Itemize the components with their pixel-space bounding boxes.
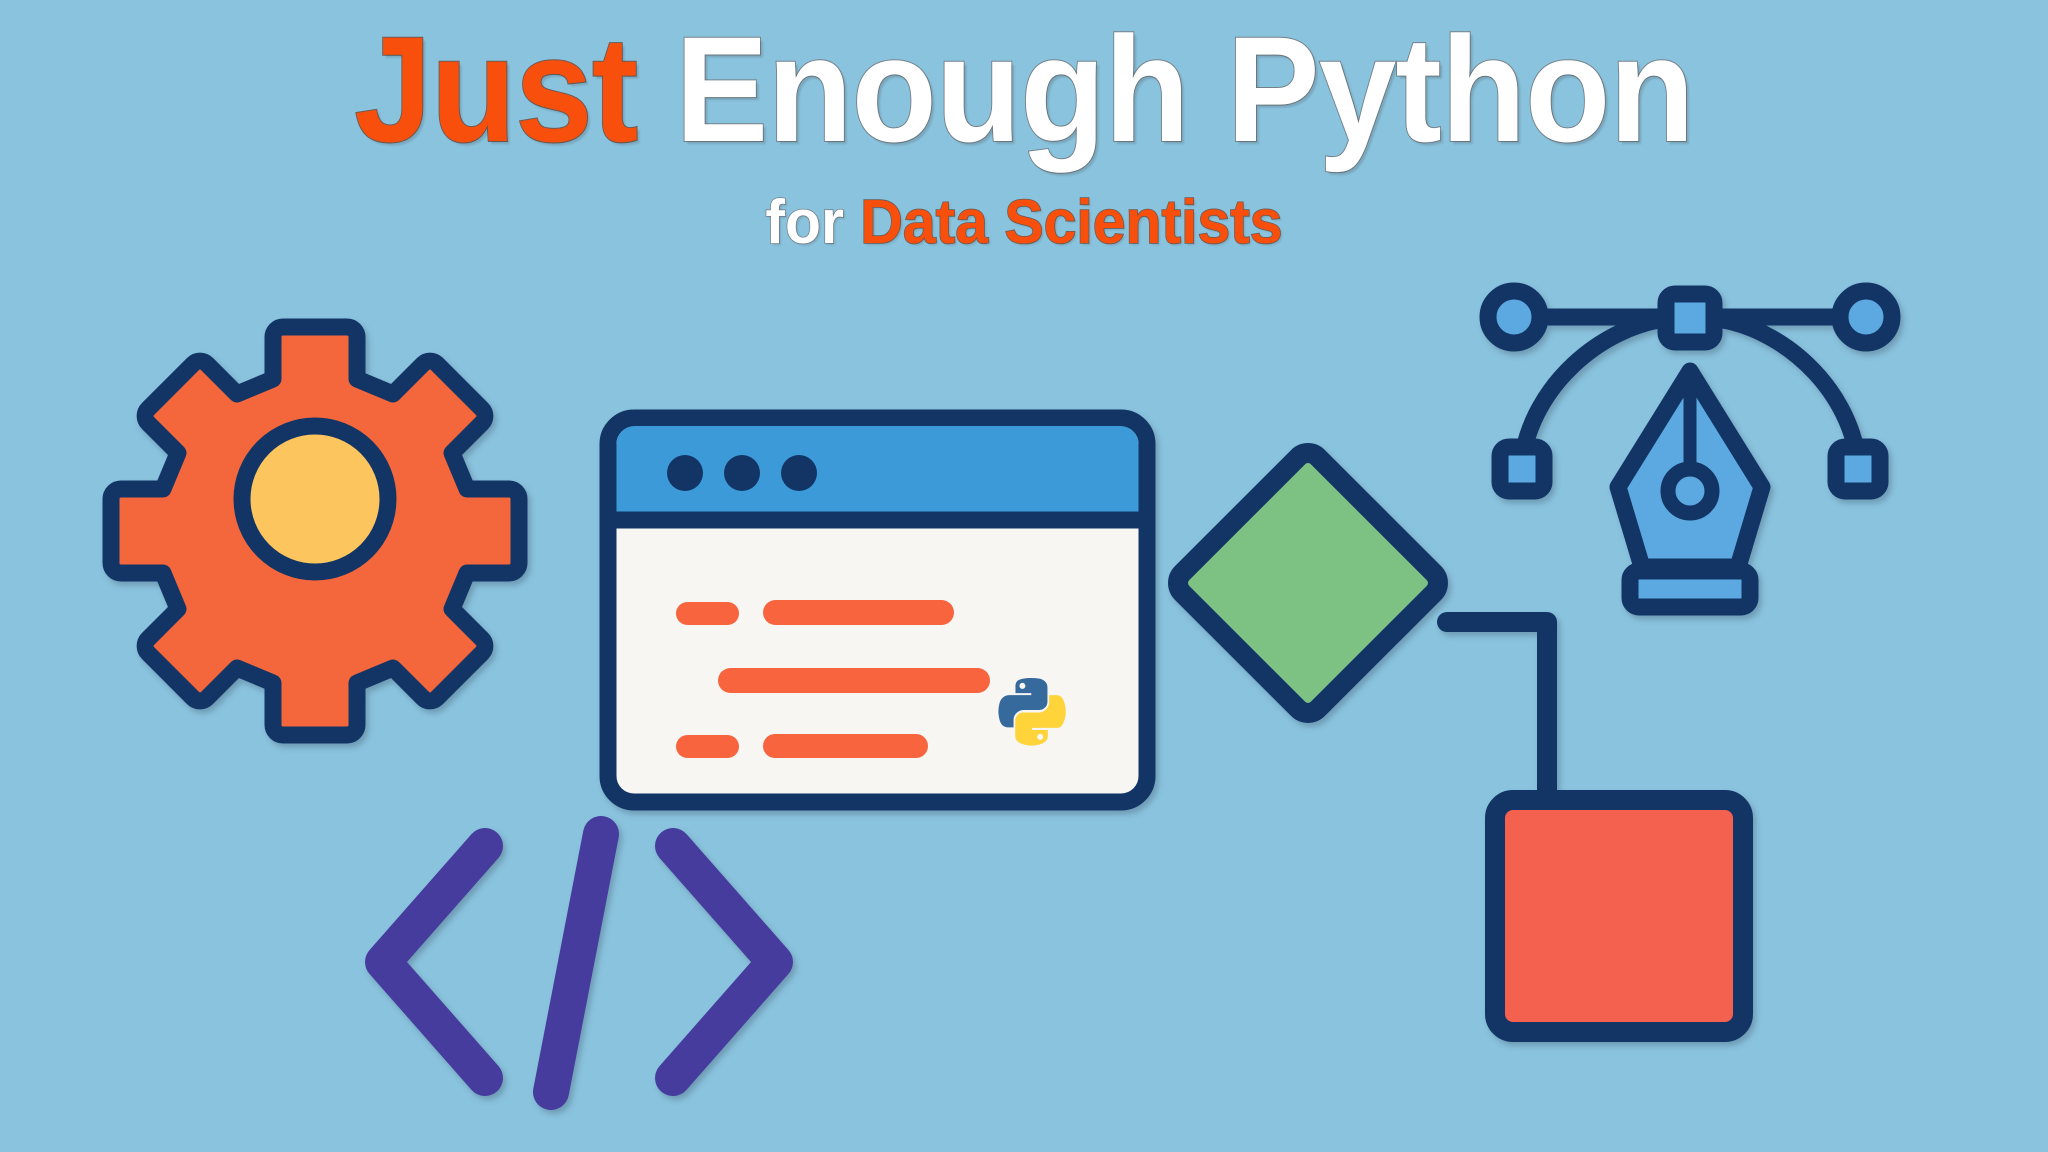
flowchart-process-node [1495, 800, 1743, 1032]
code-bar [676, 602, 739, 625]
bezier-round-anchor-right[interactable] [1840, 291, 1892, 343]
code-bar [763, 734, 928, 758]
flowchart-connector [1447, 622, 1547, 800]
gear-hub [242, 426, 388, 572]
bezier-square-anchor-center[interactable] [1666, 294, 1714, 342]
left-angle-bracket-icon [383, 846, 485, 1078]
code-bar [718, 668, 990, 693]
code-brackets-icon [355, 820, 805, 1105]
page-subtitle-prefix: for [765, 188, 860, 257]
bezier-square-anchor-right[interactable] [1836, 447, 1880, 491]
window-dot-2[interactable] [724, 455, 760, 491]
slash-icon [551, 834, 601, 1092]
page-title: Just Enough Python [72, 14, 1977, 164]
page-title-rest: Enough Python [637, 5, 1693, 173]
code-window-illustration [600, 410, 1155, 810]
right-angle-bracket-icon [673, 846, 775, 1078]
page-subtitle-accent: Data Scientists [860, 188, 1282, 257]
gear-icon [140, 325, 500, 690]
title-block: Just Enough Python for Data Scientists [0, 14, 2048, 254]
page-subtitle: for Data Scientists [51, 192, 1997, 254]
code-bar [763, 600, 954, 625]
pen-tool-icon [1470, 275, 1910, 615]
window-dot-1[interactable] [667, 455, 703, 491]
pen-nib-hole [1668, 469, 1712, 513]
page-title-accent: Just [354, 5, 637, 173]
poster-canvas: Just Enough Python for Data Scientists [0, 0, 2048, 1152]
bezier-round-anchor-left[interactable] [1488, 291, 1540, 343]
pen-barrel [1630, 571, 1750, 607]
bezier-square-anchor-left[interactable] [1500, 447, 1544, 491]
flowchart-decision-node [1172, 447, 1444, 719]
code-bar [676, 735, 739, 758]
window-dot-3[interactable] [781, 455, 817, 491]
